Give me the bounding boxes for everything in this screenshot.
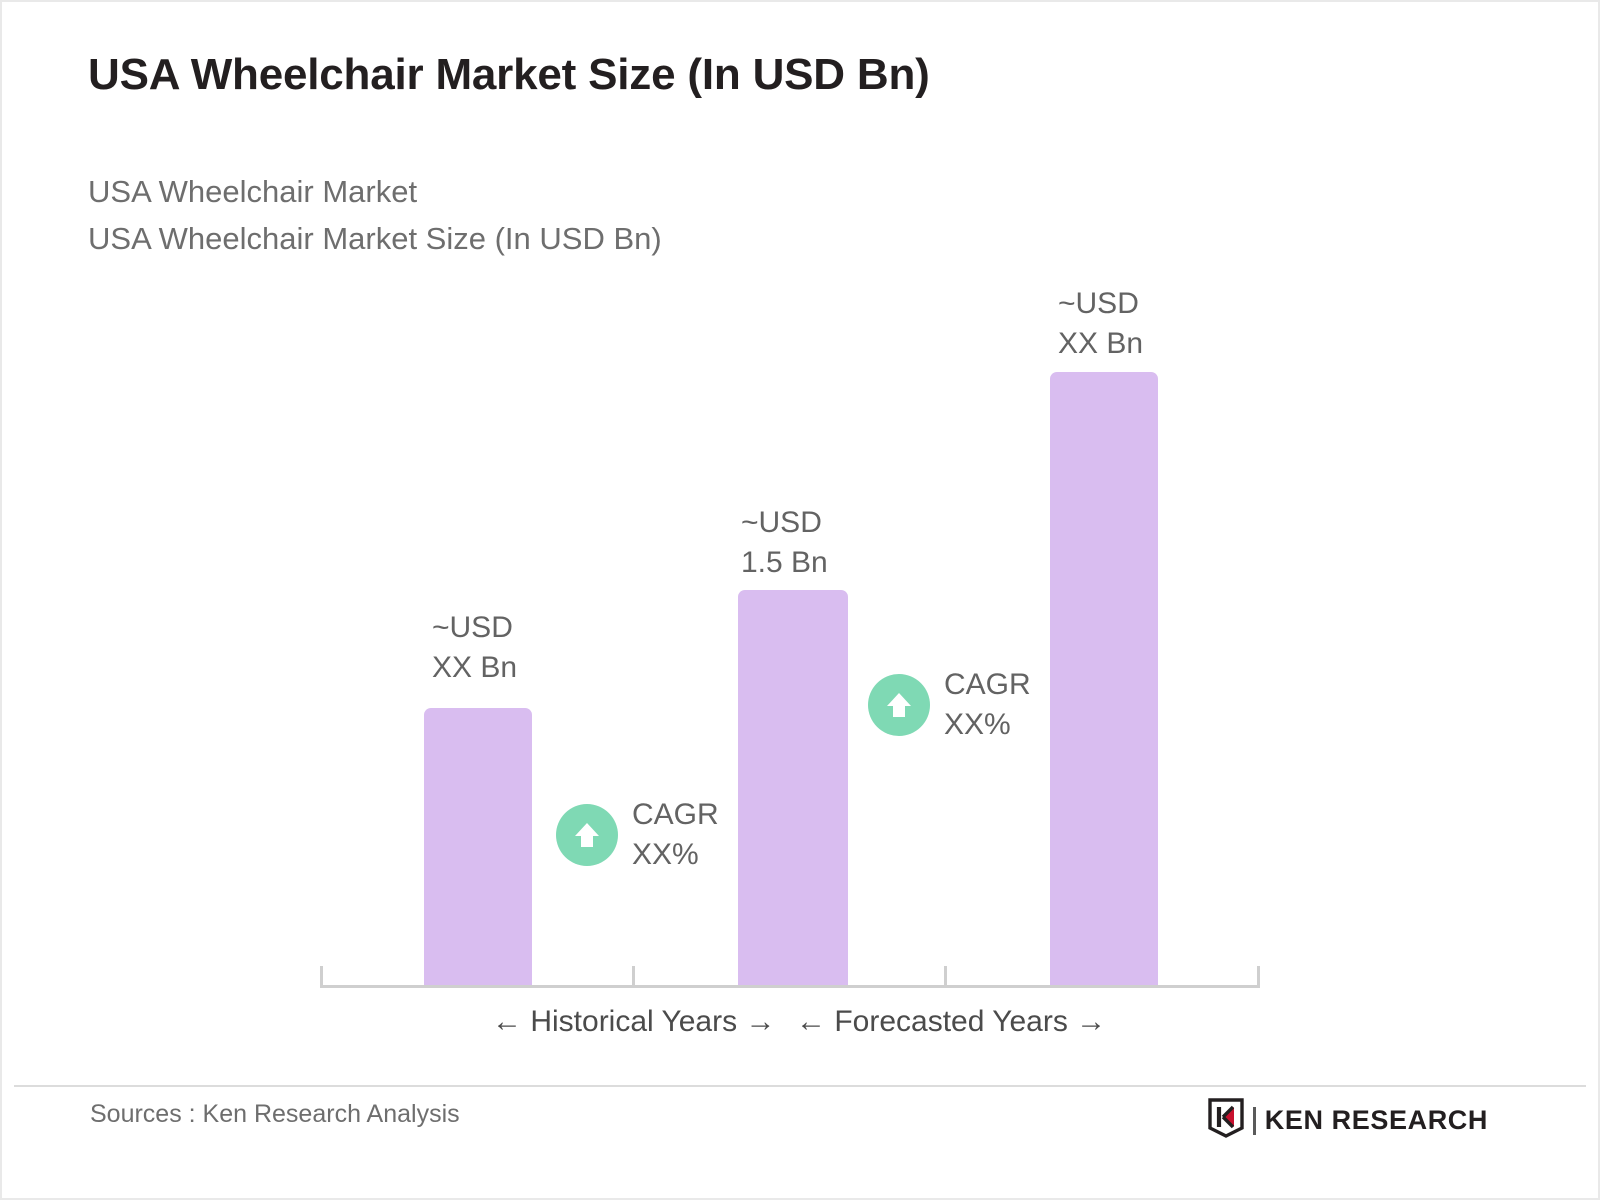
x-axis-tick-2 [944, 966, 947, 988]
bar-3[interactable] [1050, 372, 1158, 985]
x-axis-tick-1 [632, 966, 635, 988]
bar-3-value-label: ~USD XX Bn [1058, 284, 1143, 364]
cagr-annotation-2-text: CAGR XX% [944, 665, 1031, 745]
source-note: Sources : Ken Research Analysis [90, 1100, 460, 1129]
arrow-up-icon [868, 674, 930, 736]
arrow-up-icon [556, 804, 618, 866]
cagr-annotation-2-line-1: CAGR [944, 665, 1031, 705]
axis-caption-forecasted: ← Forecasted Years → [796, 1005, 1106, 1039]
bar-2-value-label: ~USD 1.5 Bn [741, 503, 828, 583]
axis-caption-forecasted-right-arrow: → [1076, 1005, 1106, 1038]
x-axis-tick-end [1257, 966, 1260, 988]
cagr-annotation-2-line-2: XX% [944, 705, 1031, 745]
bar-1[interactable] [424, 708, 532, 985]
ken-research-logo-mark-icon [1208, 1098, 1244, 1143]
axis-caption-historical-left-arrow: ← [492, 1005, 522, 1038]
axis-caption-historical-label: Historical Years [530, 1005, 737, 1038]
axis-caption-forecasted-label: Forecasted Years [834, 1005, 1067, 1038]
axis-caption-forecasted-left-arrow: ← [796, 1005, 826, 1038]
x-axis-tick-start [320, 966, 323, 988]
bar-chart-plot-area: ~USD XX Bn ~USD 1.5 Bn ~USD XX Bn CAGR X… [0, 0, 1600, 1080]
logo-divider [1253, 1107, 1256, 1135]
slide-canvas: USA Wheelchair Market Size (In USD Bn) U… [0, 0, 1600, 1200]
bar-1-value-label-line-2: XX Bn [432, 648, 517, 688]
cagr-annotation-1-line-2: XX% [632, 835, 719, 875]
cagr-annotation-1-text: CAGR XX% [632, 795, 719, 875]
bar-2-value-label-line-2: 1.5 Bn [741, 543, 828, 583]
logo-wordmark: KEN RESEARCH [1265, 1105, 1488, 1136]
bar-1-value-label: ~USD XX Bn [432, 608, 517, 688]
bar-1-value-label-line-1: ~USD [432, 608, 517, 648]
ken-research-logo: KEN RESEARCH [1208, 1098, 1488, 1143]
cagr-annotation-1: CAGR XX% [556, 795, 719, 875]
bar-3-value-label-line-1: ~USD [1058, 284, 1143, 324]
bar-2-value-label-line-1: ~USD [741, 503, 828, 543]
axis-caption-historical-right-arrow: → [745, 1005, 775, 1038]
cagr-annotation-2: CAGR XX% [868, 665, 1031, 745]
footer-divider [14, 1085, 1586, 1087]
cagr-annotation-1-line-1: CAGR [632, 795, 719, 835]
bar-3-value-label-line-2: XX Bn [1058, 324, 1143, 364]
x-axis-line [320, 985, 1260, 988]
bar-2[interactable] [738, 590, 848, 985]
axis-caption-historical: ← Historical Years → [492, 1005, 775, 1039]
